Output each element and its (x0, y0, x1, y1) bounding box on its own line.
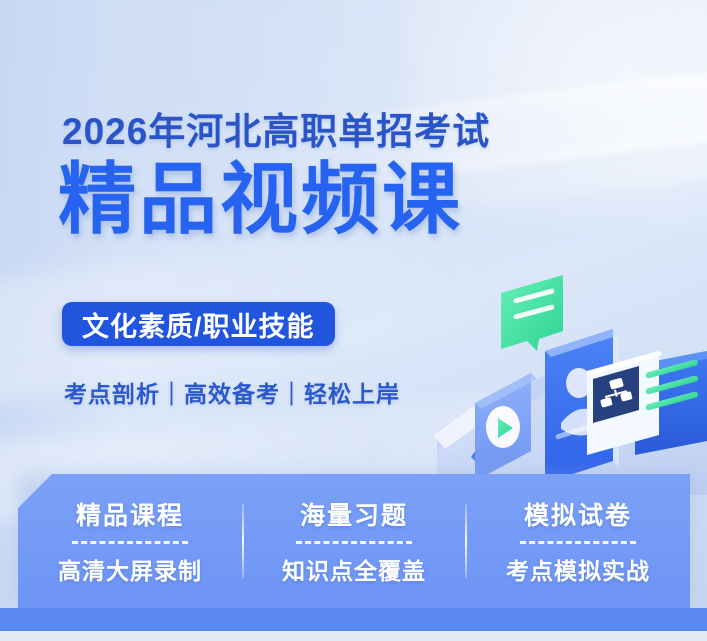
subject-badge: 文化素质/职业技能 (62, 302, 335, 346)
tagline-text: 考点剖析｜高效备考｜轻松上岸 (64, 375, 400, 409)
bottom-edge-strip (0, 631, 707, 641)
feature-separator (242, 504, 244, 578)
eyebrow-text: 2026年河北高职单招考试 (62, 101, 490, 155)
feature-subtitle: 知识点全覆盖 (282, 552, 426, 586)
feature-item-3: 模拟试卷 考点模拟实战 (466, 496, 690, 586)
feature-divider-dashed (72, 541, 188, 544)
feature-divider-dashed (520, 541, 636, 544)
feature-title: 模拟试卷 (524, 496, 632, 532)
feature-subtitle: 高清大屏录制 (58, 552, 202, 586)
feature-subtitle: 考点模拟实战 (506, 552, 650, 586)
feature-item-1: 精品课程 高清大屏录制 (18, 496, 242, 586)
page-title: 精品视频课 (58, 160, 463, 238)
feature-title: 海量习题 (300, 496, 408, 532)
bottom-band (0, 608, 707, 631)
feature-title: 精品课程 (76, 496, 184, 532)
feature-separator (465, 504, 467, 578)
feature-bar: 精品课程 高清大屏录制 海量习题 知识点全覆盖 模拟试卷 考点模拟实战 (18, 474, 690, 608)
headline-block: 2026年河北高职单招考试 精品视频课 文化素质/职业技能 考点剖析｜高效备考｜… (0, 0, 707, 470)
feature-item-2: 海量习题 知识点全覆盖 (242, 496, 466, 586)
feature-divider-dashed (296, 541, 412, 544)
promo-banner: 2026年河北高职单招考试 精品视频课 文化素质/职业技能 考点剖析｜高效备考｜… (0, 0, 707, 641)
